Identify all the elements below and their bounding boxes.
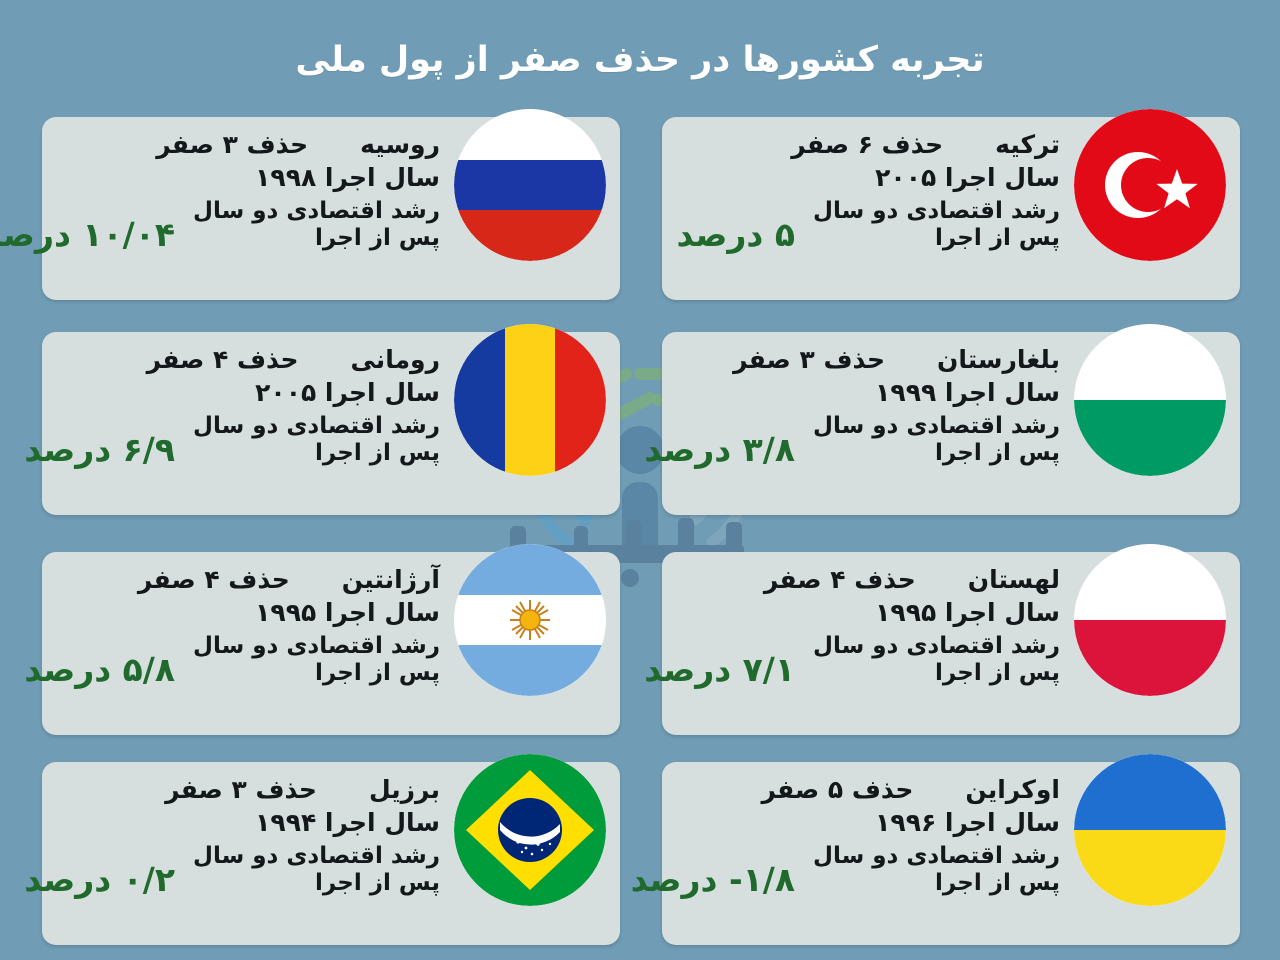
zeros-removed: حذف ۴ صفر	[764, 566, 916, 595]
growth-label-line1: رشد اقتصادی دو سال	[193, 843, 440, 870]
implementation-year: سال اجرا ۱۹۹۵	[52, 595, 444, 631]
card-info: ترکیه حذف ۶ صفر سال اجرا ۲۰۰۵ رشد اقتصاد…	[672, 131, 1064, 286]
growth-value: ۱/۸- درصد	[631, 860, 795, 899]
growth-value: ۰/۲ درصد	[24, 860, 175, 899]
growth-label: رشد اقتصادی دو سال پس از اجرا	[193, 843, 444, 896]
bulgaria-flag-icon	[1074, 324, 1226, 476]
country-name: لهستان	[968, 566, 1060, 595]
growth-label: رشد اقتصادی دو سال پس از اجرا	[813, 633, 1064, 686]
country-name: آرژانتین	[342, 566, 440, 595]
zeros-removed: حذف ۳ صفر	[165, 776, 317, 805]
poland-flag-icon	[1074, 544, 1226, 696]
card-info: روسیه حذف ۳ صفر سال اجرا ۱۹۹۸ رشد اقتصاد…	[52, 131, 444, 286]
growth-label-line1: رشد اقتصادی دو سال	[813, 413, 1060, 440]
country-name: رومانی	[351, 346, 440, 375]
country-card-argentina[interactable]: آرژانتین حذف ۴ صفر سال اجرا ۱۹۹۵ رشد اقت…	[42, 552, 620, 735]
growth-label-line1: رشد اقتصادی دو سال	[813, 198, 1060, 225]
country-name: روسیه	[360, 131, 440, 160]
country-name: برزیل	[369, 776, 440, 805]
country-cards-grid: ترکیه حذف ۶ صفر سال اجرا ۲۰۰۵ رشد اقتصاد…	[0, 117, 1280, 947]
implementation-year: سال اجرا ۱۹۹۴	[52, 805, 444, 841]
growth-label-line2: پس از اجرا	[193, 870, 440, 897]
card-info: اوکراین حذف ۵ صفر سال اجرا ۱۹۹۶ رشد اقتص…	[672, 776, 1064, 931]
growth-label: رشد اقتصادی دو سال پس از اجرا	[193, 633, 444, 686]
growth-label: رشد اقتصادی دو سال پس از اجرا	[193, 413, 444, 466]
growth-value: ۱۰/۰۴ درصد	[0, 215, 175, 254]
growth-label-line1: رشد اقتصادی دو سال	[813, 843, 1060, 870]
growth-value: ۳/۸ درصد	[644, 430, 795, 469]
growth-label-line1: رشد اقتصادی دو سال	[193, 413, 440, 440]
card-info: آرژانتین حذف ۴ صفر سال اجرا ۱۹۹۵ رشد اقت…	[52, 566, 444, 721]
growth-label-line2: پس از اجرا	[813, 225, 1060, 252]
card-info: برزیل حذف ۳ صفر سال اجرا ۱۹۹۴ رشد اقتصاد…	[52, 776, 444, 931]
page-title: تجربه کشورها در حذف صفر از پول ملی	[0, 39, 1280, 83]
zeros-removed: حذف ۴ صفر	[147, 346, 299, 375]
card-info: بلغارستان حذف ۳ صفر سال اجرا ۱۹۹۹ رشد اق…	[672, 346, 1064, 501]
country-card-turkey[interactable]: ترکیه حذف ۶ صفر سال اجرا ۲۰۰۵ رشد اقتصاد…	[662, 117, 1240, 300]
brazil-flag-icon	[454, 754, 606, 906]
growth-label-line2: پس از اجرا	[813, 660, 1060, 687]
country-card-bulgaria[interactable]: بلغارستان حذف ۳ صفر سال اجرا ۱۹۹۹ رشد اق…	[662, 332, 1240, 515]
romania-flag-icon	[454, 324, 606, 476]
country-card-poland[interactable]: لهستان حذف ۴ صفر سال اجرا ۱۹۹۵ رشد اقتصا…	[662, 552, 1240, 735]
growth-value: ۶/۹ درصد	[24, 430, 175, 469]
implementation-year: سال اجرا ۲۰۰۵	[672, 160, 1064, 196]
growth-label: رشد اقتصادی دو سال پس از اجرا	[813, 843, 1064, 896]
russia-flag-icon	[454, 109, 606, 261]
zeros-removed: حذف ۳ صفر	[156, 131, 308, 160]
implementation-year: سال اجرا ۱۹۹۹	[672, 375, 1064, 411]
zeros-removed: حذف ۳ صفر	[733, 346, 885, 375]
growth-label-line2: پس از اجرا	[193, 440, 440, 467]
growth-label: رشد اقتصادی دو سال پس از اجرا	[813, 198, 1064, 251]
growth-label-line1: رشد اقتصادی دو سال	[813, 633, 1060, 660]
growth-label-line1: رشد اقتصادی دو سال	[193, 633, 440, 660]
country-card-romania[interactable]: رومانی حذف ۴ صفر سال اجرا ۲۰۰۵ رشد اقتصا…	[42, 332, 620, 515]
growth-value: ۵/۸ درصد	[24, 650, 175, 689]
country-name: ترکیه	[995, 131, 1060, 160]
growth-label-line2: پس از اجرا	[193, 225, 440, 252]
implementation-year: سال اجرا ۱۹۹۶	[672, 805, 1064, 841]
zeros-removed: حذف ۵ صفر	[761, 776, 913, 805]
growth-value: ۵ درصد	[676, 215, 795, 254]
growth-label: رشد اقتصادی دو سال پس از اجرا	[813, 413, 1064, 466]
zeros-removed: حذف ۴ صفر	[138, 566, 290, 595]
country-name: اوکراین	[965, 776, 1060, 805]
country-card-russia[interactable]: روسیه حذف ۳ صفر سال اجرا ۱۹۹۸ رشد اقتصاد…	[42, 117, 620, 300]
growth-label-line2: پس از اجرا	[813, 870, 1060, 897]
growth-label-line1: رشد اقتصادی دو سال	[193, 198, 440, 225]
country-card-brazil[interactable]: برزیل حذف ۳ صفر سال اجرا ۱۹۹۴ رشد اقتصاد…	[42, 762, 620, 945]
growth-label-line2: پس از اجرا	[813, 440, 1060, 467]
growth-value: ۷/۱ درصد	[644, 650, 795, 689]
ukraine-flag-icon	[1074, 754, 1226, 906]
turkey-flag-icon	[1074, 109, 1226, 261]
country-name: بلغارستان	[937, 346, 1060, 375]
implementation-year: سال اجرا ۲۰۰۵	[52, 375, 444, 411]
growth-label-line2: پس از اجرا	[193, 660, 440, 687]
growth-label: رشد اقتصادی دو سال پس از اجرا	[193, 198, 444, 251]
implementation-year: سال اجرا ۱۹۹۸	[52, 160, 444, 196]
sun-of-may-icon	[510, 600, 550, 640]
card-info: لهستان حذف ۴ صفر سال اجرا ۱۹۹۵ رشد اقتصا…	[672, 566, 1064, 721]
zeros-removed: حذف ۶ صفر	[791, 131, 943, 160]
implementation-year: سال اجرا ۱۹۹۵	[672, 595, 1064, 631]
argentina-flag-icon	[454, 544, 606, 696]
card-info: رومانی حذف ۴ صفر سال اجرا ۲۰۰۵ رشد اقتصا…	[52, 346, 444, 501]
country-card-ukraine[interactable]: اوکراین حذف ۵ صفر سال اجرا ۱۹۹۶ رشد اقتص…	[662, 762, 1240, 945]
